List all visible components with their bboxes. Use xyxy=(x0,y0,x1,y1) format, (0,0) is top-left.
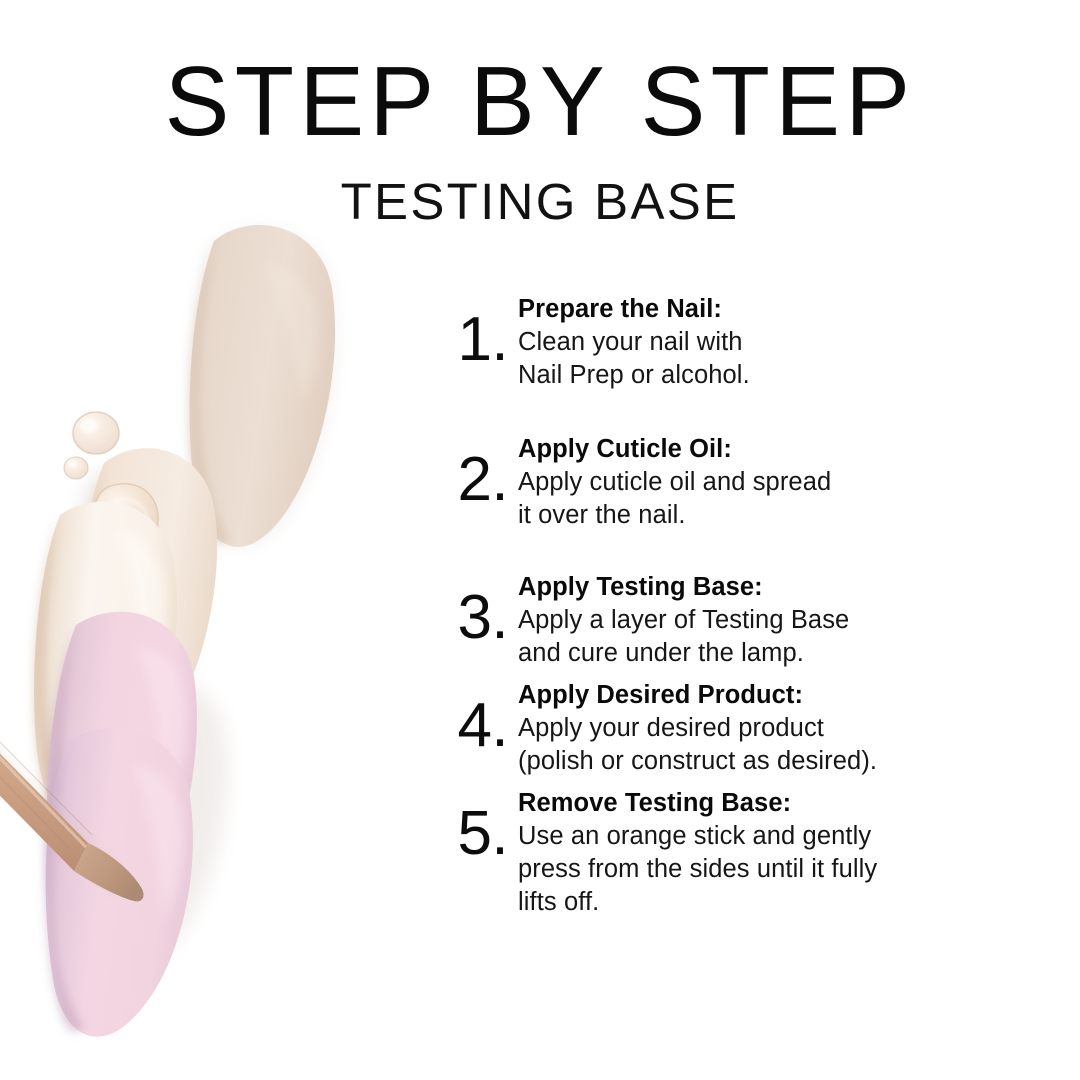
step-item-5: 5. Remove Testing Base: Use an orange st… xyxy=(452,786,972,919)
step-text-3: Apply a layer of Testing Base and cure u… xyxy=(518,604,849,670)
header: STEP BY STEP TESTING BASE xyxy=(0,0,1080,227)
step-item-1: 1. Prepare the Nail: Clean your nail wit… xyxy=(452,292,972,392)
step-text-line: Use an orange stick and gently xyxy=(518,820,877,853)
steps-list: 1. Prepare the Nail: Clean your nail wit… xyxy=(452,292,972,919)
step-item-2: 2. Apply Cuticle Oil: Apply cuticle oil … xyxy=(452,432,972,532)
step-text-2: Apply cuticle oil and spread it over the… xyxy=(518,466,831,532)
nail-artwork xyxy=(0,195,440,1055)
step-heading-2: Apply Cuticle Oil: xyxy=(518,432,831,466)
step-content-3: Apply Testing Base: Apply a layer of Tes… xyxy=(508,570,849,670)
step-spacer xyxy=(452,392,972,432)
step-text-line: Apply cuticle oil and spread xyxy=(518,466,831,499)
step-heading-1: Prepare the Nail: xyxy=(518,292,750,326)
step-text-line: (polish or construct as desired). xyxy=(518,745,877,778)
step-content-2: Apply Cuticle Oil: Apply cuticle oil and… xyxy=(508,432,831,532)
step-heading-3: Apply Testing Base: xyxy=(518,570,849,604)
nail-illustration-svg xyxy=(0,195,440,1055)
step-number-3: 3. xyxy=(452,570,508,648)
step-heading-5: Remove Testing Base: xyxy=(518,786,877,820)
step-heading-4: Apply Desired Product: xyxy=(518,678,877,712)
step-text-line: lifts off. xyxy=(518,886,877,919)
step-text-line: Apply a layer of Testing Base xyxy=(518,604,849,637)
step-number-5: 5. xyxy=(452,786,508,864)
step-text-line: and cure under the lamp. xyxy=(518,637,849,670)
step-text-line: it over the nail. xyxy=(518,499,831,532)
step-text-line: press from the sides until it fully xyxy=(518,853,877,886)
step-text-1: Clean your nail with Nail Prep or alcoho… xyxy=(518,326,750,392)
step-spacer xyxy=(452,778,972,786)
step-text-line: Apply your desired product xyxy=(518,712,877,745)
step-content-4: Apply Desired Product: Apply your desire… xyxy=(508,678,877,778)
step-number-1: 1. xyxy=(452,292,508,370)
step-text-5: Use an orange stick and gently press fro… xyxy=(518,820,877,919)
step-spacer xyxy=(452,532,972,570)
step-item-3: 3. Apply Testing Base: Apply a layer of … xyxy=(452,570,972,670)
oil-droplet-small xyxy=(64,457,88,479)
step-number-2: 2. xyxy=(452,432,508,510)
page-title: STEP BY STEP xyxy=(5,52,1074,150)
step-text-line: Clean your nail with xyxy=(518,326,750,359)
step-content-1: Prepare the Nail: Clean your nail with N… xyxy=(508,292,750,392)
step-number-4: 4. xyxy=(452,678,508,756)
step-text-4: Apply your desired product (polish or co… xyxy=(518,712,877,778)
step-content-5: Remove Testing Base: Use an orange stick… xyxy=(508,786,877,919)
step-spacer xyxy=(452,670,972,678)
step-item-4: 4. Apply Desired Product: Apply your des… xyxy=(452,678,972,778)
oil-droplet-large xyxy=(73,412,119,454)
step-text-line: Nail Prep or alcohol. xyxy=(518,359,750,392)
